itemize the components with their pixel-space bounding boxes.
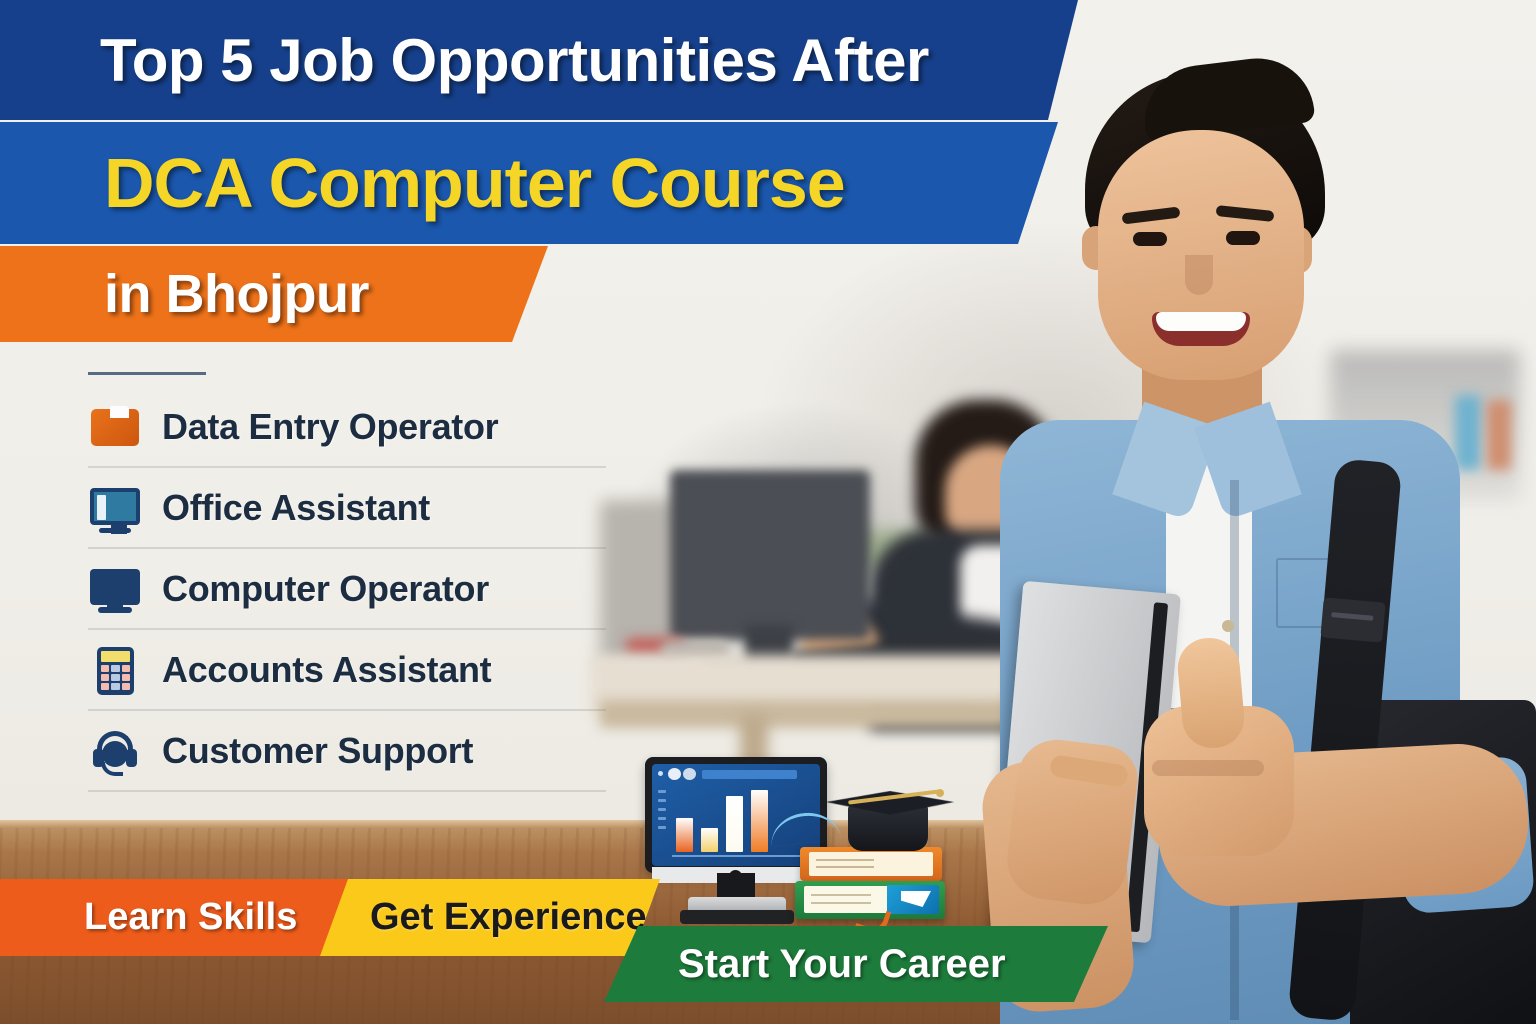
headline-line-3: in Bhojpur (104, 263, 369, 325)
ribbon-label: Start Your Career (678, 942, 1006, 987)
job-label: Customer Support (162, 730, 473, 772)
ribbon-label: Learn Skills (84, 896, 297, 939)
job-list: Data Entry Operator Office Assistant Com… (88, 372, 606, 792)
job-label: Computer Operator (162, 568, 489, 610)
screen-badge-one (668, 768, 681, 780)
ribbon-learn-skills[interactable]: Learn Skills (0, 879, 350, 956)
screen-dot (658, 771, 663, 776)
eye-left (1133, 232, 1167, 246)
headline-band-middle: DCA Computer Course (0, 122, 1058, 244)
ribbon-label: Get Experience (370, 896, 647, 939)
banner-stage: Top 5 Job Opportunities After DCA Comput… (0, 0, 1536, 1024)
chart-bar (726, 796, 743, 852)
monitor-base-shadow (680, 910, 794, 924)
folder-icon (88, 400, 142, 454)
screen-chart-axis (672, 855, 808, 857)
list-item[interactable]: Data Entry Operator (88, 387, 606, 468)
thumbs-up-icon (1175, 636, 1246, 751)
job-label: Office Assistant (162, 487, 430, 529)
monitor-sidebar-icon (88, 481, 142, 535)
eye-right (1226, 231, 1260, 245)
calculator-icon (88, 643, 142, 697)
list-item[interactable]: Computer Operator (88, 549, 606, 630)
headline-band-location: in Bhojpur (0, 246, 548, 342)
headset-icon (88, 724, 142, 778)
job-label: Accounts Assistant (162, 649, 491, 691)
screen-sidebar-ticks (658, 790, 666, 835)
chart-bar (701, 828, 718, 852)
job-list-top-rule (88, 372, 206, 375)
job-label: Data Entry Operator (162, 406, 498, 448)
knuckles (1152, 760, 1264, 776)
education-graphic (640, 755, 960, 935)
backpack-buckle (1320, 597, 1385, 642)
screen-header-bar (702, 770, 797, 779)
monitor-stand (717, 873, 755, 899)
screen-badge-two (683, 768, 696, 780)
smile (1152, 312, 1250, 346)
list-item[interactable]: Customer Support (88, 711, 606, 792)
list-item[interactable]: Office Assistant (88, 468, 606, 549)
ribbon-get-experience[interactable]: Get Experience (320, 879, 660, 956)
chart-bar (751, 790, 768, 852)
background-monitor-icon (670, 470, 870, 640)
nose (1185, 255, 1213, 295)
book-orange (800, 847, 942, 881)
shirt-button-upper (1222, 620, 1234, 632)
monitor-icon (88, 562, 142, 616)
book-pages-orange (809, 852, 933, 876)
headline-line-2: DCA Computer Course (104, 143, 845, 223)
ribbon-start-your-career[interactable]: Start Your Career (604, 926, 1108, 1002)
list-item[interactable]: Accounts Assistant (88, 630, 606, 711)
teeth (1156, 312, 1246, 331)
headline-line-1: Top 5 Job Opportunities After (100, 26, 929, 95)
chart-bar (676, 818, 693, 852)
screen-bar-chart (676, 790, 768, 852)
headline-band-top: Top 5 Job Opportunities After (0, 0, 1078, 120)
